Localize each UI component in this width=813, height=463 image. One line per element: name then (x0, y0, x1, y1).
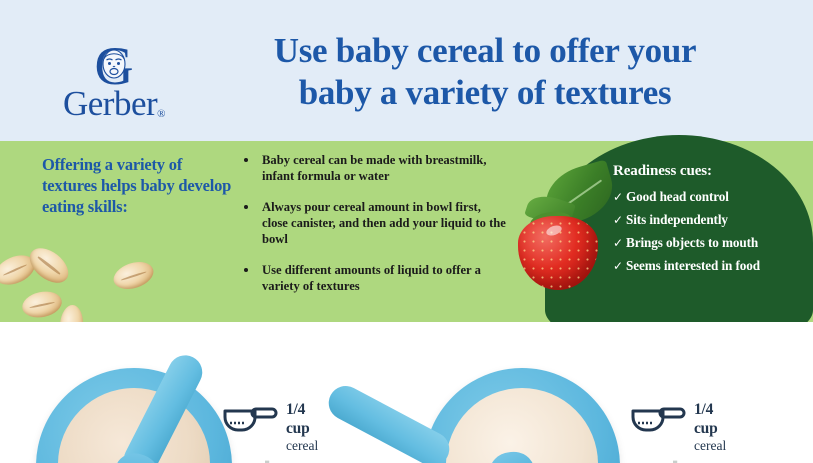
list-item: Always pour cereal amount in bowl first,… (238, 199, 508, 247)
list-item: Use different amounts of liquid to offer… (238, 262, 508, 294)
plus-sign: + (256, 452, 278, 463)
readiness-cue-text: Seems interested in food (626, 258, 760, 273)
infographic-page: G Gerber® Use baby cereal to offer your … (0, 0, 813, 463)
list-item-text: Always pour cereal amount in bowl first,… (262, 200, 506, 246)
readiness-cue-item: ✓ Good head control (613, 189, 798, 205)
bowl-thin-texture (36, 368, 236, 463)
page-title: Use baby cereal to offer your baby a var… (180, 30, 790, 114)
bullet-list: Baby cereal can be made with breastmilk,… (238, 152, 508, 294)
plus-sign: + (664, 452, 686, 463)
readiness-cue-text: Sits independently (626, 212, 728, 227)
measure-text: 1/4 cup cereal (694, 400, 726, 454)
measuring-cup-icon (222, 404, 278, 434)
measure-text: 1/4 cup cereal (286, 400, 318, 454)
bullet-dot-icon (244, 158, 248, 162)
list-item-text: Use different amounts of liquid to offer… (262, 263, 481, 293)
readiness-cue-item: ✓ Brings objects to mouth (613, 235, 798, 251)
bullet-dot-icon (244, 268, 248, 272)
bullet-dot-icon (244, 205, 248, 209)
readiness-cues-title: Readiness cues: (613, 162, 798, 181)
measure-label: cereal (286, 438, 318, 454)
measuring-cup-icon (630, 404, 686, 434)
readiness-cue-text: Good head control (626, 189, 729, 204)
headline-line-1: Use baby cereal to offer your (274, 31, 697, 70)
measure-amount: 1/4 cup (286, 400, 318, 438)
measure-amount: 1/4 cup (694, 400, 726, 438)
readiness-cue-item: ✓ Sits independently (613, 212, 798, 228)
readiness-cue-item: ✓ Seems interested in food (613, 258, 798, 274)
bowl-thick-texture (424, 368, 624, 463)
headline-line-2: baby a variety of textures (180, 72, 790, 114)
header-band: G Gerber® Use baby cereal to offer your … (0, 0, 813, 141)
gerber-baby-face-icon (101, 48, 128, 81)
logo-wordmark: Gerber® (48, 86, 180, 132)
readiness-cues-content: Readiness cues: ✓ Good head control ✓ Si… (613, 162, 798, 281)
measure-label: cereal (694, 438, 726, 454)
list-item: Baby cereal can be made with breastmilk,… (238, 152, 508, 184)
left-heading: Offering a variety of textures helps bab… (42, 154, 232, 217)
readiness-cue-text: Brings objects to mouth (626, 235, 758, 250)
gerber-logo: G Gerber® (48, 42, 180, 120)
strawberry-garnish (500, 168, 620, 290)
list-item-text: Baby cereal can be made with breastmilk,… (262, 153, 486, 183)
logo-mark: G (48, 42, 180, 88)
registered-mark: ® (157, 108, 165, 120)
